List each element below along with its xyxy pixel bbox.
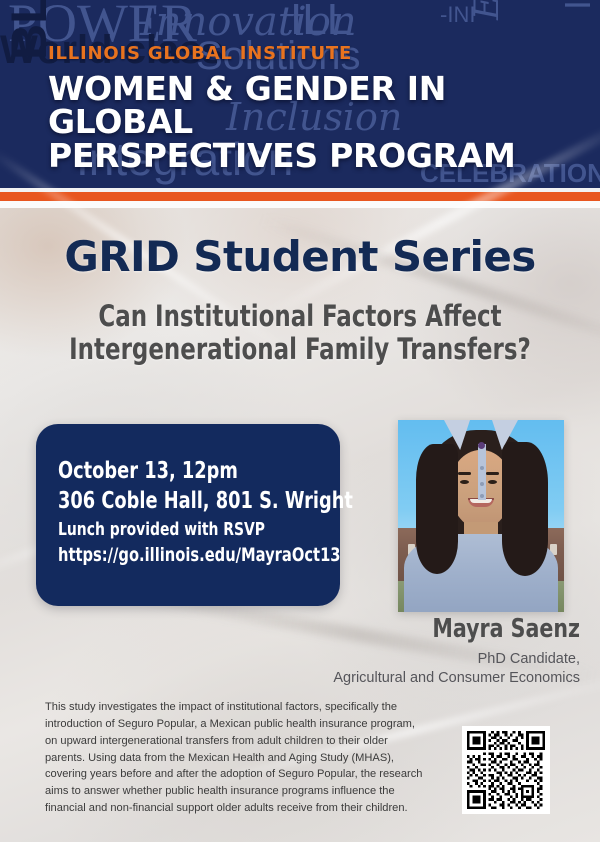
series-title: GRID Student Series: [0, 232, 600, 281]
speaker-role-line1: PhD Candidate,: [478, 651, 580, 667]
event-poster: POWER Innovation ILL -INI World class So…: [0, 0, 600, 842]
photo-eye-right: [488, 480, 497, 484]
photo-hair-front-left: [416, 444, 458, 574]
poster-header-banner: POWER Innovation ILL -INI World class So…: [0, 0, 600, 188]
photo-hair-front-right: [502, 442, 548, 576]
talk-title: Can Institutional Factors Affect Interge…: [62, 300, 537, 366]
event-date-time: October 13, 12pm: [58, 456, 288, 486]
event-details-text: October 13, 12pm 306 Coble Hall, 801 S. …: [58, 456, 288, 568]
institute-name: ILLINOIS GLOBAL INSTITUTE: [48, 44, 568, 64]
bg-word-blue: BLUE: [4, 0, 54, 60]
program-title: WOMEN & GENDER IN GLOBAL PERSPECTIVES PR…: [48, 72, 568, 173]
photo-necklace-pendant: [478, 442, 485, 449]
photo-eyebrow-left: [458, 472, 471, 475]
talk-title-line1: Can Institutional Factors Affect: [98, 299, 501, 333]
program-title-line1: WOMEN & GENDER IN GLOBAL: [48, 69, 446, 142]
bg-word-illini: ILLINI: [560, 0, 596, 10]
photo-shirt-button: [480, 466, 484, 470]
event-lunch-note: Lunch provided with RSVP: [58, 517, 288, 543]
speaker-role: PhD Candidate, Agricultural and Consumer…: [240, 650, 580, 687]
event-details-box: October 13, 12pm 306 Coble Hall, 801 S. …: [36, 424, 340, 606]
photo-shirt-button: [480, 494, 484, 498]
photo-shirt-placket: [478, 444, 486, 500]
divider-white-bottom: [0, 201, 600, 208]
qr-code-image: [467, 731, 545, 809]
event-rsvp-link[interactable]: https://go.illinois.edu/MayraOct13: [58, 542, 288, 568]
bg-word-explore: Explore: [470, 0, 504, 20]
event-location: 306 Coble Hall, 801 S. Wright: [58, 486, 288, 516]
bg-word-inclusion: Inclusion: [596, 0, 600, 2]
speaker-name: Mayra Saenz: [369, 616, 580, 643]
divider-orange-bar: [0, 192, 600, 201]
abstract-text: This study investigates the impact of in…: [45, 699, 427, 817]
speaker-photo: [398, 420, 564, 612]
qr-code[interactable]: [462, 726, 550, 814]
header-text-block: ILLINOIS GLOBAL INSTITUTE WOMEN & GENDER…: [48, 44, 568, 173]
program-title-line2: PERSPECTIVES PROGRAM: [48, 139, 568, 173]
photo-eyebrow-right: [486, 472, 499, 475]
photo-eye-left: [460, 480, 469, 484]
talk-title-line2: Intergenerational Family Transfers?: [62, 333, 537, 366]
photo-shirt-button: [480, 482, 484, 486]
speaker-role-line2: Agricultural and Consumer Economics: [240, 669, 580, 688]
